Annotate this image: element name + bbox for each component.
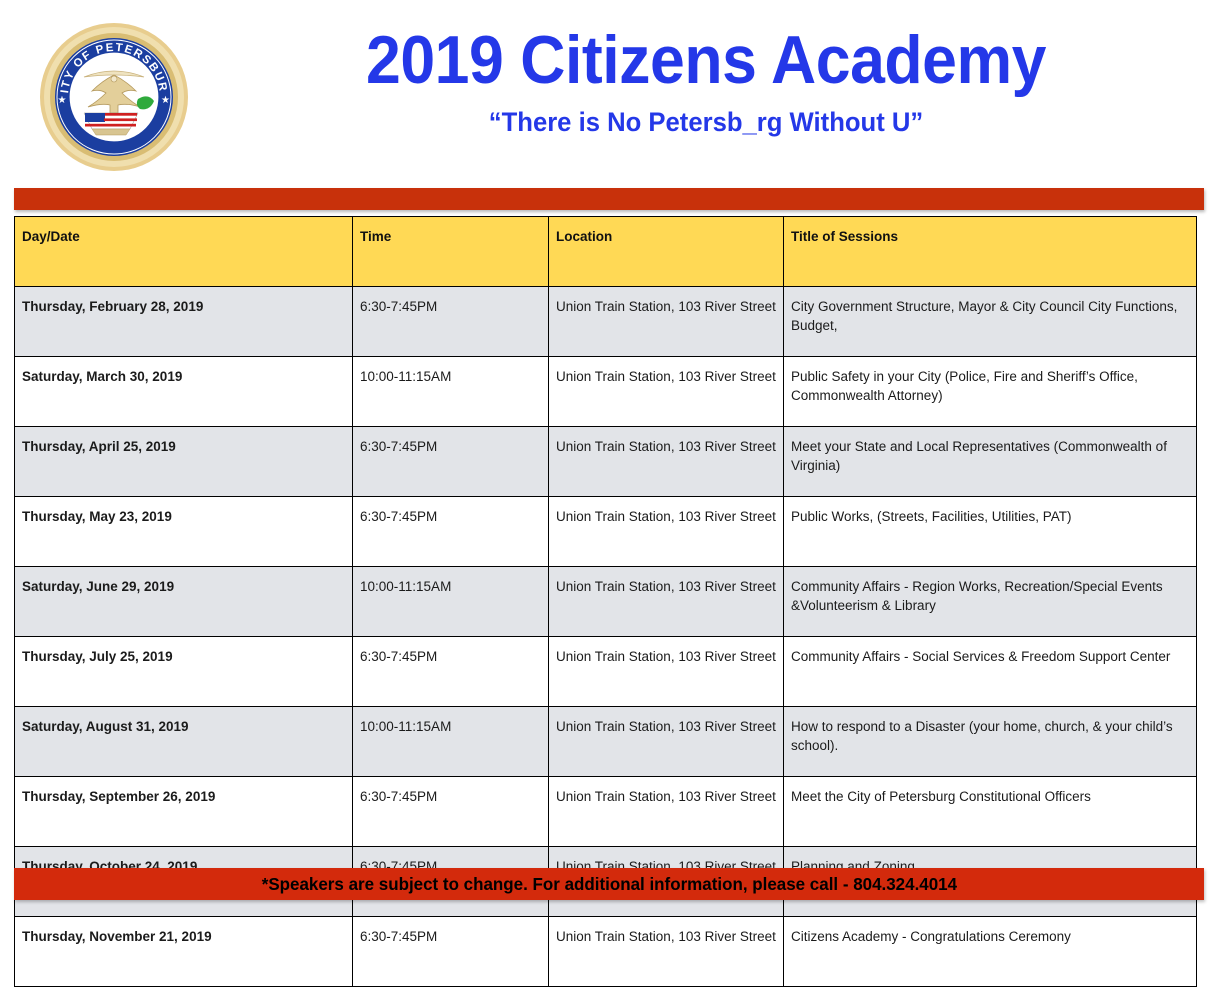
cell-location: Union Train Station, 103 River Street (549, 497, 784, 567)
cell-date: Thursday, May 23, 2019 (15, 497, 353, 567)
page-subtitle: “There is No Petersb_rg Without U” (231, 108, 1181, 138)
city-seal-icon: CITY OF PETERSBURG VIRGINIA ★ ★ (38, 21, 190, 173)
title-block: 2019 Citizens Academy “There is No Peter… (206, 26, 1206, 138)
cell-location: Union Train Station, 103 River Street (549, 637, 784, 707)
column-header-day-date: Day/Date (15, 217, 353, 287)
cell-session-title: Citizens Academy - Congratulations Cerem… (784, 917, 1197, 987)
cell-session-title: Public Safety in your City (Police, Fire… (784, 357, 1197, 427)
bottom-red-banner: *Speakers are subject to change. For add… (14, 868, 1204, 900)
cell-time: 10:00-11:15AM (353, 357, 549, 427)
cell-location: Union Train Station, 103 River Street (549, 917, 784, 987)
page-title: 2019 Citizens Academy (246, 26, 1166, 94)
cell-date: Saturday, March 30, 2019 (15, 357, 353, 427)
table-row: Saturday, June 29, 2019 10:00-11:15AM Un… (15, 567, 1197, 637)
table-row: Thursday, September 26, 2019 6:30-7:45PM… (15, 777, 1197, 847)
cell-location: Union Train Station, 103 River Street (549, 287, 784, 357)
column-header-time: Time (353, 217, 549, 287)
cell-date: Thursday, February 28, 2019 (15, 287, 353, 357)
table-row: Saturday, March 30, 2019 10:00-11:15AM U… (15, 357, 1197, 427)
table-row: Thursday, July 25, 2019 6:30-7:45PM Unio… (15, 637, 1197, 707)
table-row: Saturday, August 31, 2019 10:00-11:15AM … (15, 707, 1197, 777)
table-header-row: Day/Date Time Location Title of Sessions (15, 217, 1197, 287)
cell-time: 6:30-7:45PM (353, 497, 549, 567)
top-red-banner (14, 188, 1204, 210)
cell-location: Union Train Station, 103 River Street (549, 357, 784, 427)
table-row: Thursday, February 28, 2019 6:30-7:45PM … (15, 287, 1197, 357)
flyer-page: CITY OF PETERSBURG VIRGINIA ★ ★ (0, 0, 1216, 913)
cell-location: Union Train Station, 103 River Street (549, 707, 784, 777)
cell-time: 10:00-11:15AM (353, 567, 549, 637)
cell-session-title: Meet the City of Petersburg Constitution… (784, 777, 1197, 847)
cell-location: Union Train Station, 103 River Street (549, 777, 784, 847)
cell-session-title: Community Affairs - Region Works, Recrea… (784, 567, 1197, 637)
cell-session-title: City Government Structure, Mayor & City … (784, 287, 1197, 357)
cell-time: 6:30-7:45PM (353, 427, 549, 497)
cell-time: 10:00-11:15AM (353, 707, 549, 777)
cell-date: Saturday, June 29, 2019 (15, 567, 353, 637)
svg-text:★: ★ (161, 95, 170, 106)
column-header-title: Title of Sessions (784, 217, 1197, 287)
column-header-location: Location (549, 217, 784, 287)
cell-location: Union Train Station, 103 River Street (549, 427, 784, 497)
flyer-header: CITY OF PETERSBURG VIRGINIA ★ ★ (0, 0, 1216, 182)
cell-session-title: Community Affairs - Social Services & Fr… (784, 637, 1197, 707)
cell-date: Thursday, November 21, 2019 (15, 917, 353, 987)
cell-date: Thursday, April 25, 2019 (15, 427, 353, 497)
cell-date: Thursday, July 25, 2019 (15, 637, 353, 707)
table-row: Thursday, May 23, 2019 6:30-7:45PM Union… (15, 497, 1197, 567)
table-row: Thursday, April 25, 2019 6:30-7:45PM Uni… (15, 427, 1197, 497)
cell-time: 6:30-7:45PM (353, 777, 549, 847)
table-head: Day/Date Time Location Title of Sessions (15, 217, 1197, 287)
footer-note: *Speakers are subject to change. For add… (261, 874, 956, 895)
cell-session-title: Meet your State and Local Representative… (784, 427, 1197, 497)
cell-time: 6:30-7:45PM (353, 287, 549, 357)
cell-session-title: How to respond to a Disaster (your home,… (784, 707, 1197, 777)
cell-date: Saturday, August 31, 2019 (15, 707, 353, 777)
cell-time: 6:30-7:45PM (353, 637, 549, 707)
cell-date: Thursday, September 26, 2019 (15, 777, 353, 847)
cell-location: Union Train Station, 103 River Street (549, 567, 784, 637)
table-row: Thursday, November 21, 2019 6:30-7:45PM … (15, 917, 1197, 987)
cell-time: 6:30-7:45PM (353, 917, 549, 987)
cell-session-title: Public Works, (Streets, Facilities, Util… (784, 497, 1197, 567)
svg-text:★: ★ (58, 95, 67, 106)
